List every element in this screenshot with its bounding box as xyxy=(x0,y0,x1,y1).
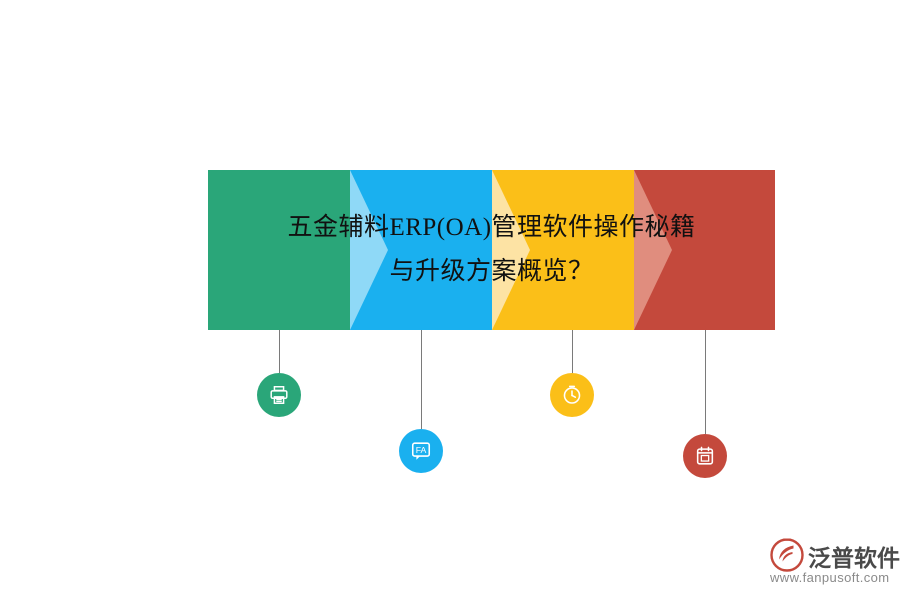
calendar-icon xyxy=(694,445,716,467)
node-printer[interactable] xyxy=(257,373,301,417)
title-line-2: 与升级方案概览？ xyxy=(389,250,593,294)
page-title: 五金辅料ERP(OA)管理软件操作秘籍 与升级方案概览？ xyxy=(208,170,775,330)
brand-url: www.fanpusoft.com xyxy=(770,570,890,585)
printer-icon xyxy=(268,384,290,406)
title-line-1: 五金辅料ERP(OA)管理软件操作秘籍 xyxy=(287,206,695,250)
svg-text:FA: FA xyxy=(416,445,427,455)
connector-line-4 xyxy=(705,330,706,434)
node-chat-document[interactable]: FA xyxy=(399,429,443,473)
node-clock[interactable] xyxy=(550,373,594,417)
connector-line-1 xyxy=(279,330,280,373)
brand-watermark: 泛普软件 www.fanpusoft.com xyxy=(770,538,890,590)
brand-title: 泛普软件 xyxy=(808,539,900,573)
clock-icon xyxy=(561,384,583,406)
connector-line-2 xyxy=(421,330,422,429)
connector-line-3 xyxy=(572,330,573,373)
chat-document-icon: FA xyxy=(410,440,432,462)
node-calendar[interactable] xyxy=(683,434,727,478)
title-banner: 五金辅料ERP(OA)管理软件操作秘籍 与升级方案概览？ xyxy=(208,170,775,330)
fp-logo-icon xyxy=(770,538,804,572)
slide-canvas: 五金辅料ERP(OA)管理软件操作秘籍 与升级方案概览？ FA xyxy=(0,0,900,600)
